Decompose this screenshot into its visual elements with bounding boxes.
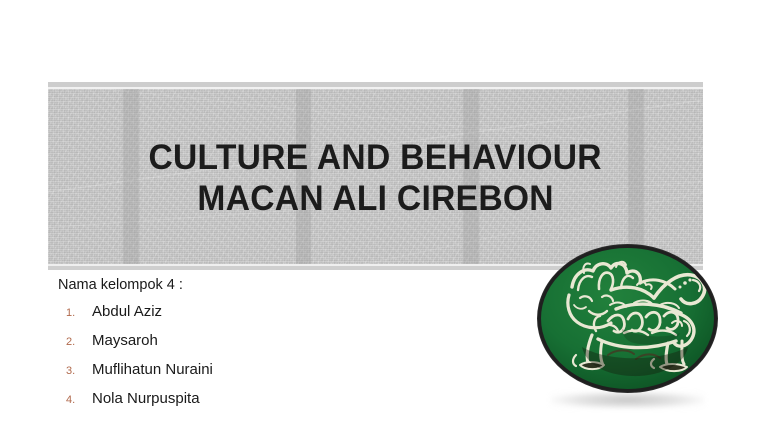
list-item-number: 4. <box>58 394 92 406</box>
list-item-number: 1. <box>58 307 92 319</box>
title-banner: CULTURE AND BEHAVIOUR MACAN ALI CIREBON <box>48 82 703 270</box>
list-item-label: Nola Nurpuspita <box>92 390 200 407</box>
body-content: Nama kelompok 4 : 1. Abdul Aziz 2. Maysa… <box>58 276 478 419</box>
list-item-label: Muflihatun Nuraini <box>92 361 213 378</box>
banner-stripe <box>463 82 479 270</box>
list-item-label: Maysaroh <box>92 332 158 349</box>
banner-stripe <box>123 82 139 270</box>
list-item: 4. Nola Nurpuspita <box>58 390 478 407</box>
list-item-number: 2. <box>58 336 92 348</box>
list-item-number: 3. <box>58 365 92 377</box>
list-item: 3. Muflihatun Nuraini <box>58 361 478 378</box>
banner-stripe <box>296 82 312 270</box>
macan-ali-emblem-icon <box>536 243 719 394</box>
banner-texture-overlay <box>48 82 703 270</box>
banner-scratch-overlay <box>48 82 703 270</box>
title-line-secondary: MACAN ALI CIREBON <box>197 178 553 219</box>
group-label: Nama kelompok 4 : <box>58 276 478 294</box>
banner-top-edge <box>48 82 703 89</box>
list-item: 1. Abdul Aziz <box>58 303 478 320</box>
list-item-label: Abdul Aziz <box>92 303 162 320</box>
list-item: 2. Maysaroh <box>58 332 478 349</box>
slide-title: CULTURE AND BEHAVIOUR MACAN ALI CIREBON <box>48 82 703 270</box>
title-line-primary: CULTURE AND BEHAVIOUR <box>149 137 602 178</box>
banner-texture-overlay-secondary <box>48 82 703 270</box>
logo-container <box>536 243 719 394</box>
banner-stripe <box>628 82 644 270</box>
slide-canvas: CULTURE AND BEHAVIOUR MACAN ALI CIREBON … <box>0 0 768 432</box>
member-list: 1. Abdul Aziz 2. Maysaroh 3. Muflihatun … <box>58 303 478 407</box>
